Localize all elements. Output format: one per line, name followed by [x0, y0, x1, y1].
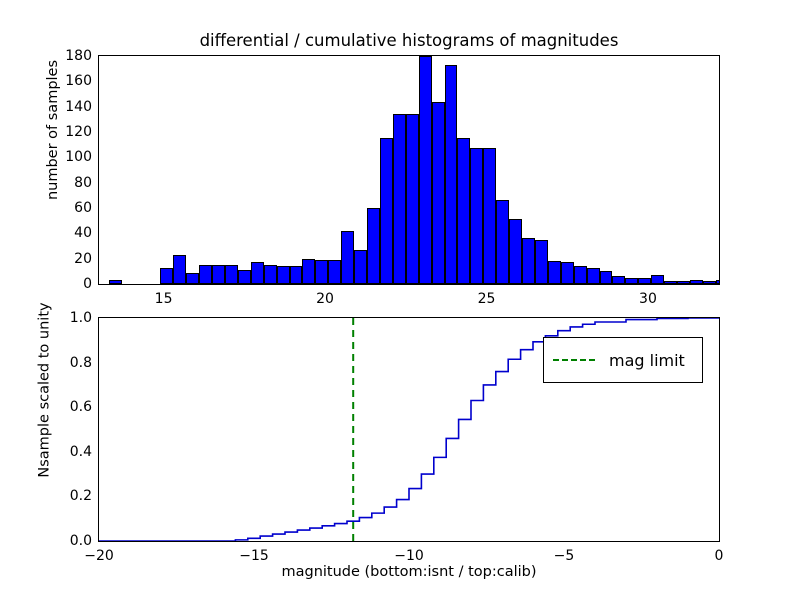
bottom-panel-xlabel: magnitude (bottom:isnt / top:calib) — [98, 564, 720, 580]
histogram-bar — [522, 238, 535, 284]
histogram-bar — [677, 281, 690, 284]
histogram-bar — [664, 281, 677, 284]
histogram-bar — [600, 271, 613, 284]
xtick-label: 20 — [316, 291, 334, 307]
figure-canvas: differential / cumulative histograms of … — [0, 0, 800, 600]
histogram-bar — [238, 270, 251, 284]
histogram-bar — [496, 200, 509, 284]
ytick-label: 0.8 — [40, 355, 92, 371]
histogram-bar — [251, 262, 264, 284]
mag-limit-line-icon — [553, 359, 595, 361]
ytick-label: 60 — [40, 200, 92, 216]
histogram-bar — [173, 255, 186, 284]
ytick-label: 140 — [40, 99, 92, 115]
histogram-bar — [341, 231, 354, 284]
ytick-label: 0.0 — [40, 533, 92, 549]
histogram-bars — [99, 56, 719, 284]
xtick-label: −20 — [84, 548, 114, 564]
histogram-bar — [199, 265, 212, 284]
ytick-label: 0.6 — [40, 399, 92, 415]
histogram-bar — [445, 65, 458, 284]
histogram-bar — [328, 260, 341, 284]
histogram-bar — [380, 138, 393, 284]
histogram-bar — [625, 278, 638, 284]
histogram-bar — [354, 250, 367, 284]
histogram-bar — [264, 265, 277, 284]
histogram-bar — [432, 102, 445, 284]
histogram-bar — [535, 240, 548, 284]
ytick-label: 40 — [40, 225, 92, 241]
histogram-bar — [406, 114, 419, 284]
ytick-label: 20 — [40, 251, 92, 267]
histogram-bar — [690, 280, 703, 284]
ytick-label: 0.4 — [40, 444, 92, 460]
xtick-label: −15 — [239, 548, 269, 564]
histogram-bar — [277, 266, 290, 284]
histogram-bar — [509, 219, 522, 284]
ytick-label: 100 — [40, 149, 92, 165]
histogram-bar — [419, 56, 432, 284]
histogram-axes — [98, 55, 720, 285]
xtick-label: 30 — [639, 291, 657, 307]
histogram-bar — [109, 280, 122, 284]
histogram-bar — [290, 266, 303, 284]
ytick-label: 160 — [40, 73, 92, 89]
xtick-label: 0 — [715, 548, 724, 564]
ytick-label: 120 — [40, 124, 92, 140]
xtick-label: −10 — [394, 548, 424, 564]
xtick-label: −5 — [554, 548, 575, 564]
histogram-bar — [225, 265, 238, 284]
cumulative-plot-area: mag limit — [99, 318, 719, 541]
histogram-bar — [716, 280, 719, 284]
histogram-bar — [457, 138, 470, 284]
histogram-bar — [548, 261, 561, 284]
histogram-bar — [587, 268, 600, 284]
histogram-bar — [574, 266, 587, 284]
histogram-bar — [367, 208, 380, 284]
histogram-bar — [393, 114, 406, 284]
histogram-bar — [315, 260, 328, 284]
ytick-label: 80 — [40, 175, 92, 191]
ytick-label: 180 — [40, 48, 92, 64]
histogram-bar — [470, 148, 483, 284]
xtick-label: 15 — [155, 291, 173, 307]
histogram-bar — [561, 262, 574, 284]
histogram-bar — [651, 275, 664, 284]
histogram-bar — [638, 278, 651, 284]
histogram-bar — [302, 259, 315, 284]
histogram-bar — [612, 276, 625, 284]
cumulative-axes: mag limit — [98, 317, 720, 542]
histogram-bar — [483, 148, 496, 284]
histogram-bar — [212, 265, 225, 284]
histogram-bar — [703, 281, 716, 284]
ytick-label: 0.2 — [40, 488, 92, 504]
legend-box[interactable]: mag limit — [543, 337, 703, 383]
histogram-bar — [186, 273, 199, 284]
page-title: differential / cumulative histograms of … — [98, 31, 720, 50]
xtick-label: 25 — [478, 291, 496, 307]
ytick-label: 1.0 — [40, 310, 92, 326]
legend-item-label: mag limit — [609, 351, 685, 370]
histogram-bar — [160, 268, 173, 284]
